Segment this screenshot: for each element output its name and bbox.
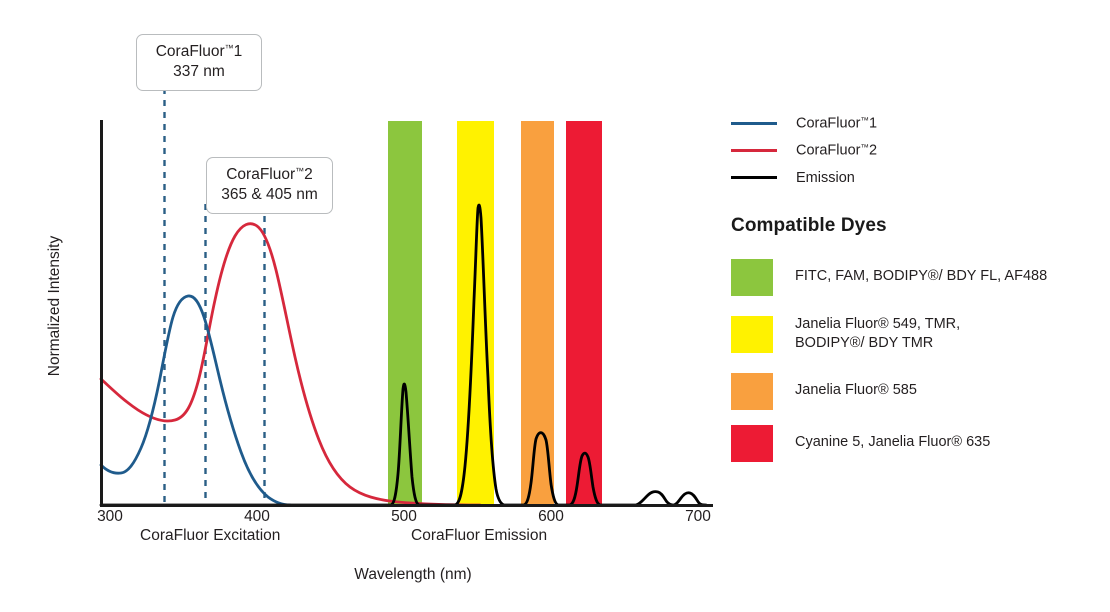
legend: CoraFluor™1 CoraFluor™2 Emission Compati… <box>731 110 1091 469</box>
curve-coraflour-1 <box>101 296 290 505</box>
callout-cf2-name: CoraFluor <box>226 166 295 183</box>
dye-row-green: FITC, FAM, BODIPY®/ BDY FL, AF488 <box>731 251 1091 303</box>
callout-coraflour-1: CoraFluor™1 337 nm <box>136 34 262 91</box>
legend-swatch-emission <box>731 176 777 179</box>
dye-label-line: Janelia Fluor® 585 <box>795 382 917 398</box>
sublabel-excitation: CoraFluor Excitation <box>140 527 280 545</box>
legend-item-emission: Emission <box>731 164 1091 191</box>
legend-label-text: CoraFluor <box>796 143 860 159</box>
y-axis-title: Normalized Intensity <box>46 226 64 386</box>
callout-cf2-value: 365 & 405 nm <box>219 185 320 205</box>
dye-swatch-red <box>731 425 773 462</box>
dye-swatch-yellow <box>731 316 773 353</box>
legend-swatch-coraflour-2 <box>731 149 777 152</box>
band-orange <box>521 121 554 505</box>
callout-coraflour-2: CoraFluor™2 365 & 405 nm <box>206 157 333 214</box>
legend-label-suffix: 2 <box>869 143 877 159</box>
dye-label-line: Janelia Fluor® 549, TMR, <box>795 315 960 334</box>
dye-swatch-green <box>731 259 773 296</box>
legend-label-emission: Emission <box>796 170 855 186</box>
legend-label-suffix: 1 <box>869 116 877 132</box>
x-tick-300: 300 <box>80 508 140 526</box>
dye-label-yellow: Janelia Fluor® 549, TMR, BODIPY®/ BDY TM… <box>795 315 960 354</box>
callout-cf2-suffix: 2 <box>304 166 313 183</box>
dye-swatch-orange <box>731 373 773 410</box>
callout-cf1-value: 337 nm <box>149 62 249 82</box>
x-tick-400: 400 <box>227 508 287 526</box>
x-axis-title: Wavelength (nm) <box>0 566 826 584</box>
legend-swatch-coraflour-1 <box>731 122 777 125</box>
legend-item-coraflour-2: CoraFluor™2 <box>731 137 1091 164</box>
callout-cf1-name: CoraFluor <box>156 43 225 60</box>
dye-label-line: Cyanine 5, Janelia Fluor® 635 <box>795 434 990 450</box>
callout-cf1-title: CoraFluor™1 <box>149 42 249 62</box>
band-red <box>566 121 602 505</box>
legend-label-text: CoraFluor <box>796 116 860 132</box>
legend-label-coraflour-1: CoraFluor™1 <box>796 115 877 132</box>
dye-row-red: Cyanine 5, Janelia Fluor® 635 <box>731 417 1091 469</box>
x-tick-500: 500 <box>374 508 434 526</box>
dye-row-orange: Janelia Fluor® 585 <box>731 365 1091 417</box>
band-yellow <box>457 121 494 505</box>
compatible-dyes-title: Compatible Dyes <box>731 215 1091 237</box>
trademark-symbol: ™ <box>860 142 869 152</box>
compatible-dyes-list: FITC, FAM, BODIPY®/ BDY FL, AF488 Janeli… <box>731 251 1091 469</box>
trademark-symbol: ™ <box>295 166 304 176</box>
dye-label-red: Cyanine 5, Janelia Fluor® 635 <box>795 433 990 452</box>
x-tick-600: 600 <box>521 508 581 526</box>
dye-label-green: FITC, FAM, BODIPY®/ BDY FL, AF488 <box>795 267 1047 286</box>
dye-label-orange: Janelia Fluor® 585 <box>795 381 917 400</box>
dye-label-line: FITC, FAM, BODIPY®/ BDY FL, AF488 <box>795 268 1047 284</box>
dye-row-yellow: Janelia Fluor® 549, TMR, BODIPY®/ BDY TM… <box>731 303 1091 365</box>
callout-cf2-title: CoraFluor™2 <box>219 165 320 185</box>
legend-item-coraflour-1: CoraFluor™1 <box>731 110 1091 137</box>
legend-label-coraflour-2: CoraFluor™2 <box>796 142 877 159</box>
sublabel-emission: CoraFluor Emission <box>411 527 547 545</box>
trademark-symbol: ™ <box>225 43 234 53</box>
x-tick-700: 700 <box>668 508 728 526</box>
curve-coraflour-2 <box>101 224 480 505</box>
band-green <box>388 121 422 505</box>
fluorescence-spectra-figure: CoraFluor™1 337 nm CoraFluor™2 365 & 405… <box>0 0 1110 612</box>
callout-cf1-suffix: 1 <box>234 43 243 60</box>
dye-bands <box>388 121 602 505</box>
trademark-symbol: ™ <box>860 115 869 125</box>
dye-label-line: BODIPY®/ BDY TMR <box>795 334 960 353</box>
